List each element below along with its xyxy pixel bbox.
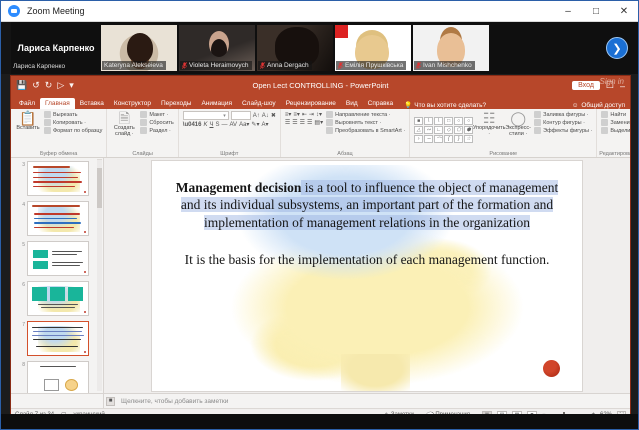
- powerpoint-titlebar: 💾 ↺ ↻ ▷ ▾ Open Lect CONTROLLING - PowerP…: [11, 76, 630, 95]
- thumbnail-row[interactable]: 7: [18, 321, 93, 356]
- notes-collapse-button[interactable]: ■: [106, 397, 115, 406]
- quick-access-toolbar[interactable]: 💾 ↺ ↻ ▷ ▾: [16, 80, 74, 91]
- font-row-2: \u0416 K Ч S — AV Aa▾ ✎▾ A▾: [183, 121, 276, 128]
- text-highlight-icon[interactable]: ✎▾: [251, 121, 259, 128]
- align-text-label: Выровнять текст ·: [335, 120, 381, 126]
- align-text-button[interactable]: Выровнять текст ·: [326, 119, 405, 126]
- decrease-font-size-icon[interactable]: A↓: [262, 113, 269, 119]
- thumb-text-line: [33, 177, 79, 178]
- participant-tile-3[interactable]: Anna Dergach: [257, 25, 333, 71]
- align-right-icon[interactable]: ☰: [300, 119, 305, 126]
- thumb-rec-dot: [84, 351, 87, 354]
- shapes-gallery[interactable]: ■ \ \ □ ○ ○ △ ∾ ∟ ◇ ⬠ ⬢ › ∼ ⌒: [414, 111, 473, 149]
- editing-commands: Найти Заменить · Выделить ·: [601, 111, 630, 149]
- arrange-icon: ☷: [483, 111, 496, 125]
- thumb-text-line: [34, 213, 80, 214]
- clear-formatting-icon[interactable]: ✖: [271, 112, 276, 119]
- shape-arc-icon[interactable]: ⌒: [434, 135, 443, 143]
- participant-name-text-2: Violeta Heraimovych: [189, 62, 249, 69]
- shape-hexagon-icon[interactable]: ⬢: [464, 126, 473, 134]
- thumb-text-line: [40, 366, 76, 367]
- replace-button[interactable]: Заменить ·: [601, 119, 630, 126]
- thumbnail-number: 8: [18, 361, 25, 368]
- lightbulb-icon: 💡: [404, 101, 412, 109]
- quick-styles-label: Экспресс-стили ·: [505, 125, 531, 137]
- quick-styles-button[interactable]: ◯ Экспресс-стили ·: [505, 111, 531, 149]
- layout-icon: [140, 111, 147, 118]
- copy-icon: [44, 119, 51, 126]
- shape-fill-button[interactable]: Заливка фигуры ·: [534, 111, 592, 118]
- text-direction-button[interactable]: Направление текста ·: [326, 111, 405, 118]
- participant-tile-0[interactable]: Лариса Карпенко Лариса Карпенко: [11, 25, 101, 71]
- find-button[interactable]: Найти: [601, 111, 630, 118]
- shape-fill-label: Заливка фигуры ·: [543, 112, 588, 118]
- thumb-rec-dot: [84, 271, 87, 274]
- font-controls: ▾ A↑ A↓ ✖ \u0416 K Ч S — AV Aa▾ ✎: [183, 111, 276, 149]
- scissors-icon: [44, 111, 51, 118]
- tell-me-placeholder: Что вы хотите сделать?: [414, 102, 486, 109]
- thumbnail-scrollbar[interactable]: [97, 160, 102, 391]
- ribbon-group-clipboard: 📋 Вставить Вырезать Копировать · Формат …: [11, 109, 107, 157]
- group-label-editing: Редактирование: [597, 151, 630, 157]
- new-slide-label: Создать слайд ·: [111, 125, 137, 137]
- search-icon: [601, 111, 608, 118]
- bulleted-list-icon[interactable]: ≡▾: [285, 111, 292, 118]
- thumb-text-line: [36, 346, 78, 347]
- signin-ghost-text: Sign in: [600, 77, 624, 86]
- shape-outline-label: Контур фигуры ·: [543, 120, 585, 126]
- strikethrough-icon[interactable]: —: [222, 122, 228, 128]
- participant-label-2: Violeta Heraimovych: [180, 61, 252, 70]
- thumb-text-line: [32, 335, 85, 336]
- layout-label: Макет ·: [149, 112, 168, 118]
- tab-view[interactable]: Вид: [341, 98, 363, 109]
- participant-name-text-4: Емілія Прушківська: [345, 62, 403, 69]
- thumbnail-number: 3: [18, 161, 25, 168]
- participant-tile-4[interactable]: Емілія Прушківська: [335, 25, 411, 71]
- participant-label-5: Ivan Mishchenko: [414, 61, 475, 70]
- reset-icon: [140, 119, 147, 126]
- thumb-rec-dot: [84, 311, 87, 314]
- slide-text-content[interactable]: Management decision is a tool to influen…: [152, 161, 582, 269]
- powerpoint-window: 💾 ↺ ↻ ▷ ▾ Open Lect CONTROLLING - PowerP…: [10, 75, 631, 415]
- section-icon: [140, 127, 147, 134]
- thumb-text-line: [33, 186, 75, 187]
- convert-smartart-button[interactable]: Преобразовать в SmartArt ·: [326, 127, 405, 134]
- thumbnail-row[interactable]: 5: [18, 241, 93, 276]
- thumb-text-line: [33, 181, 82, 182]
- tab-slideshow[interactable]: Слайд-шоу: [237, 98, 281, 109]
- character-spacing-icon[interactable]: AV: [230, 122, 238, 128]
- zoom-window-title: Zoom Meeting: [27, 6, 85, 16]
- slide-canvas-area[interactable]: Management decision is a tool to influen…: [104, 158, 630, 393]
- redo-icon[interactable]: ↻: [45, 80, 53, 91]
- reset-button[interactable]: Сбросить: [140, 119, 173, 126]
- notes-left-spacer: [11, 394, 104, 408]
- signin-button[interactable]: Вход: [572, 81, 600, 90]
- font-size-input[interactable]: [231, 111, 251, 120]
- decrease-indent-icon[interactable]: ⇤: [302, 111, 307, 118]
- shape-square-icon[interactable]: □: [444, 117, 453, 125]
- align-text-icon: [326, 119, 333, 126]
- find-label: Найти: [610, 112, 626, 118]
- participant-label-4: Емілія Прушківська: [336, 61, 406, 70]
- group-label-paragraph: Абзац: [281, 151, 409, 157]
- shape-curve-icon[interactable]: ∾: [424, 126, 433, 134]
- cut-label: Вырезать: [53, 112, 77, 118]
- select-label: Выделить ·: [610, 128, 630, 134]
- tab-transitions[interactable]: Переходы: [156, 98, 197, 109]
- section-label: Раздел ·: [149, 128, 171, 134]
- slide-term-bold: Management decision: [176, 180, 302, 195]
- font-row-1: ▾ A↑ A↓ ✖: [183, 111, 276, 120]
- align-left-icon[interactable]: ☰: [285, 119, 290, 126]
- thumb-green-box: [32, 287, 46, 301]
- thumb-rec-dot: [84, 231, 87, 234]
- zoom-logo-icon: [8, 5, 20, 17]
- italic-icon[interactable]: K: [203, 122, 207, 128]
- shape-effects-label: Эффекты фигуры ·: [543, 128, 592, 134]
- thumb-rec-dot: [84, 191, 87, 194]
- mic-muted-icon: [338, 62, 343, 69]
- justify-icon[interactable]: ☰: [307, 119, 312, 126]
- thumbnail-row[interactable]: 8: [18, 361, 93, 393]
- increase-font-size-icon[interactable]: A↑: [253, 113, 260, 119]
- convert-smartart-label: Преобразовать в SmartArt ·: [335, 128, 405, 134]
- thumb-text-line: [34, 222, 81, 223]
- text-direction-label: Направление текста ·: [335, 112, 391, 118]
- layout-button[interactable]: Макет ·: [140, 111, 173, 118]
- zoom-titlebar: Zoom Meeting – □ ✕: [1, 1, 638, 22]
- arrange-label: Упорядочить ·: [473, 125, 506, 137]
- ribbon-group-slides: 🗎 Создать слайд · Макет · Сбросить Разде…: [107, 109, 178, 157]
- shape-circle-icon[interactable]: ○: [454, 117, 463, 125]
- thumb-ellipse: [65, 379, 78, 391]
- font-color-icon[interactable]: A▾: [261, 121, 268, 128]
- ribbon: 📋 Вставить Вырезать Копировать · Формат …: [11, 109, 630, 158]
- slides-commands: Макет · Сбросить Раздел ·: [140, 111, 173, 149]
- ribbon-tabs: Файл Главная Вставка Конструктор Переход…: [11, 95, 630, 109]
- group-label-font: Шрифт: [179, 151, 280, 157]
- format-painter-label: Формат по образцу: [53, 128, 102, 134]
- thumb-text-line: [33, 331, 82, 332]
- align-center-icon[interactable]: ☰: [292, 119, 297, 126]
- shape-brace-left-icon[interactable]: {: [444, 135, 453, 143]
- ribbon-group-editing: Найти Заменить · Выделить · Редактирован…: [597, 109, 630, 157]
- save-icon[interactable]: 💾: [16, 80, 27, 91]
- text-direction-icon: [326, 111, 333, 118]
- change-case-icon[interactable]: Aa▾: [239, 121, 249, 128]
- shape-oval-icon[interactable]: ○: [464, 117, 473, 125]
- map-graphic: [38, 166, 80, 192]
- thumb-text-line: [52, 254, 77, 255]
- shape-line-icon[interactable]: \: [424, 117, 433, 125]
- thumbnail-row[interactable]: 6: [18, 281, 93, 316]
- shape-brace-right-icon[interactable]: }: [454, 135, 463, 143]
- thumb-box: [44, 379, 60, 391]
- participant-label-3: Anna Dergach: [258, 61, 312, 70]
- active-speaker-name: Лариса Карпенко: [17, 43, 94, 53]
- scrollbar-knob[interactable]: [97, 168, 102, 208]
- notes-pane[interactable]: ■ Щелкните, чтобы добавить заметки: [11, 393, 630, 408]
- slide-paragraph-2[interactable]: It is the basis for the implementation o…: [172, 251, 562, 269]
- map-graphic: [38, 206, 80, 232]
- slide-thumbnail-pane[interactable]: 3 4: [11, 158, 104, 393]
- maximize-button[interactable]: □: [582, 1, 610, 21]
- paragraph-row-1: ≡▾ ≡▾ ⇤ ⇥ ↕▾: [285, 111, 323, 118]
- fill-bucket-icon: [534, 111, 541, 118]
- arrange-button[interactable]: ☷ Упорядочить ·: [476, 111, 502, 149]
- group-label-slides: Слайды: [107, 151, 177, 157]
- thumb-text-line: [34, 218, 77, 219]
- shape-star-icon[interactable]: ☆: [464, 135, 473, 143]
- shape-rect-icon[interactable]: ■: [414, 117, 423, 125]
- tab-review[interactable]: Рецензирование: [281, 98, 341, 109]
- quick-styles-icon: ◯: [510, 111, 526, 125]
- slide-paragraph-1[interactable]: Management decision is a tool to influen…: [172, 179, 562, 232]
- reset-label: Сбросить: [149, 120, 173, 126]
- outline-pen-icon: [534, 119, 541, 126]
- thumb-text-line: [33, 339, 81, 340]
- tell-me-search[interactable]: 💡 Что вы хотите сделать?: [404, 101, 486, 109]
- format-painter-button[interactable]: Формат по образцу: [44, 127, 102, 134]
- share-label: Общий доступ: [581, 102, 625, 109]
- participant-tile-1[interactable]: Kateryna Alekseieva: [101, 25, 177, 71]
- tab-design[interactable]: Конструктор: [109, 98, 156, 109]
- clipboard-icon: 📋: [19, 111, 36, 125]
- copy-button[interactable]: Копировать ·: [44, 119, 102, 126]
- replace-label: Заменить ·: [610, 120, 630, 126]
- zoom-meeting-window: Zoom Meeting – □ ✕ Лариса Карпенко Ларис…: [0, 0, 639, 430]
- notes-placeholder-text: Щелкните, чтобы добавить заметки: [121, 398, 228, 405]
- undo-icon[interactable]: ↺: [32, 80, 40, 91]
- document-title: Open Lect CONTROLLING - PowerPoint: [11, 81, 630, 90]
- slide-thumbnail-3[interactable]: [27, 161, 89, 196]
- shapes-grid[interactable]: ■ \ \ □ ○ ○ △ ∾ ∟ ◇ ⬠ ⬢ › ∼ ⌒: [414, 117, 473, 143]
- group-label-clipboard: Буфер обмена: [11, 151, 106, 157]
- ribbon-group-font: ▾ A↑ A↓ ✖ \u0416 K Ч S — AV Aa▾ ✎: [179, 109, 281, 157]
- group-label-drawing: Рисование: [410, 151, 596, 157]
- minimize-button[interactable]: –: [554, 1, 582, 21]
- thumb-text-line: [38, 304, 79, 305]
- shape-pentagon-icon[interactable]: ⬠: [454, 126, 463, 134]
- smartart-icon: [326, 127, 333, 134]
- thumb-green-box: [33, 250, 49, 258]
- participant-label-1: Kateryna Alekseieva: [102, 61, 166, 70]
- shape-diamond-icon[interactable]: ◇: [444, 126, 453, 134]
- share-button[interactable]: ☺ Общий доступ: [572, 102, 630, 109]
- cut-button[interactable]: Вырезать: [44, 111, 102, 118]
- shape-format-commands: Заливка фигуры · Контур фигуры · Эффекты…: [534, 111, 592, 149]
- paragraph-row-2: ☰ ☰ ☰ ☰ ▤▾: [285, 119, 323, 126]
- ribbon-group-drawing: ■ \ \ □ ○ ○ △ ∾ ∟ ◇ ⬠ ⬢ › ∼ ⌒: [410, 109, 597, 157]
- thumb-green-box: [68, 287, 82, 301]
- ribbon-group-paragraph: ≡▾ ≡▾ ⇤ ⇥ ↕▾ ☰ ☰ ☰ ☰ ▤▾ Направл: [281, 109, 410, 157]
- participant-tile-2[interactable]: Violeta Heraimovych: [179, 25, 255, 71]
- shape-chevron-icon[interactable]: ›: [414, 135, 423, 143]
- columns-icon[interactable]: ▤▾: [314, 119, 323, 126]
- current-slide[interactable]: Management decision is a tool to influen…: [151, 160, 583, 392]
- thumb-text-line: [52, 265, 80, 266]
- participant-label-0: Лариса Карпенко: [13, 63, 65, 70]
- shape-freeform-icon[interactable]: ∼: [424, 135, 433, 143]
- thumb-title-line: [33, 166, 70, 168]
- next-page-arrow-icon[interactable]: ❯: [606, 37, 628, 59]
- paragraph-extra: Направление текста · Выровнять текст · П…: [326, 111, 405, 149]
- slide-thumbnail-5[interactable]: [27, 241, 89, 276]
- clipboard-commands: Вырезать Копировать · Формат по образцу: [44, 111, 102, 149]
- paragraph-controls: ≡▾ ≡▾ ⇤ ⇥ ↕▾ ☰ ☰ ☰ ☰ ▤▾: [285, 111, 323, 149]
- paste-button[interactable]: 📋 Вставить: [15, 111, 41, 149]
- underline-icon[interactable]: Ч: [209, 122, 213, 128]
- recording-indicator-dot: [543, 360, 560, 377]
- participant-tile-5[interactable]: Ivan Mishchenko: [413, 25, 489, 71]
- zoom-toolbar-area: [1, 414, 638, 429]
- tab-file[interactable]: Файл: [14, 98, 40, 109]
- select-button[interactable]: Выделить ·: [601, 127, 630, 134]
- thumb-text-line: [52, 251, 82, 252]
- close-icon[interactable]: ✕: [610, 1, 638, 21]
- thumbnail-number: 5: [18, 241, 25, 248]
- shape-triangle-icon[interactable]: △: [414, 126, 423, 134]
- replace-icon: [601, 119, 608, 126]
- thumb-text-line: [32, 327, 84, 328]
- slide-thumbnail-6[interactable]: [27, 281, 89, 316]
- filmstrip-left-pad: [1, 22, 11, 74]
- thumbnail-number: 7: [18, 321, 25, 328]
- thumbnail-number: 6: [18, 281, 25, 288]
- start-slideshow-icon[interactable]: ▷: [57, 80, 64, 91]
- shape-effects-button[interactable]: Эффекты фигуры ·: [534, 127, 592, 134]
- copy-label: Копировать ·: [53, 120, 86, 126]
- thumbnail-row[interactable]: 3: [18, 161, 93, 196]
- window-controls: – □ ✕: [554, 1, 638, 21]
- shape-elbow-icon[interactable]: ∟: [434, 126, 443, 134]
- increase-indent-icon[interactable]: ⇥: [309, 111, 314, 118]
- tab-animations[interactable]: Анимация: [196, 98, 237, 109]
- shape-outline-button[interactable]: Контур фигуры ·: [534, 119, 592, 126]
- shape-arrow-icon[interactable]: \: [434, 117, 443, 125]
- editing-area: 3 4: [11, 158, 630, 393]
- paintbrush-icon: [44, 127, 51, 134]
- font-family-input[interactable]: ▾: [183, 111, 229, 120]
- thumb-title-line: [32, 205, 80, 207]
- participant-name-text-5: Ivan Mishchenko: [423, 62, 472, 69]
- thumb-green-box: [50, 287, 66, 301]
- mic-muted-icon: [182, 62, 187, 69]
- tab-home[interactable]: Главная: [40, 98, 75, 109]
- thumbnail-row[interactable]: 4: [18, 201, 93, 236]
- slide-thumbnail-7[interactable]: [27, 321, 89, 356]
- numbered-list-icon[interactable]: ≡▾: [293, 111, 300, 118]
- slide-thumbnail-8[interactable]: [27, 361, 89, 393]
- thumbnail-number: 4: [18, 201, 25, 208]
- mic-muted-icon: [260, 62, 265, 69]
- crimea-graphic: [341, 354, 410, 391]
- tab-insert[interactable]: Вставка: [75, 98, 109, 109]
- new-slide-icon: 🗎: [119, 111, 130, 125]
- customize-qat-icon[interactable]: ▾: [69, 80, 74, 91]
- paste-label: Вставить: [16, 125, 39, 131]
- participant-name-text-3: Anna Dergach: [267, 62, 309, 69]
- select-icon: [601, 127, 608, 134]
- effects-icon: [534, 127, 541, 134]
- participant-filmstrip: Лариса Карпенко Лариса Карпенко Kateryna…: [1, 22, 638, 74]
- mic-muted-icon: [416, 62, 421, 69]
- thumb-green-box: [33, 261, 49, 269]
- thumb-text-line: [52, 262, 83, 263]
- bold-icon[interactable]: \u0416: [183, 122, 202, 128]
- section-button[interactable]: Раздел ·: [140, 127, 173, 134]
- new-slide-button[interactable]: 🗎 Создать слайд ·: [111, 111, 137, 149]
- tab-help[interactable]: Справка: [363, 98, 399, 109]
- shadow-icon[interactable]: S: [215, 122, 219, 128]
- person-share-icon: ☺: [572, 102, 579, 109]
- slide-thumbnail-4[interactable]: [27, 201, 89, 236]
- line-spacing-icon[interactable]: ↕▾: [316, 111, 322, 118]
